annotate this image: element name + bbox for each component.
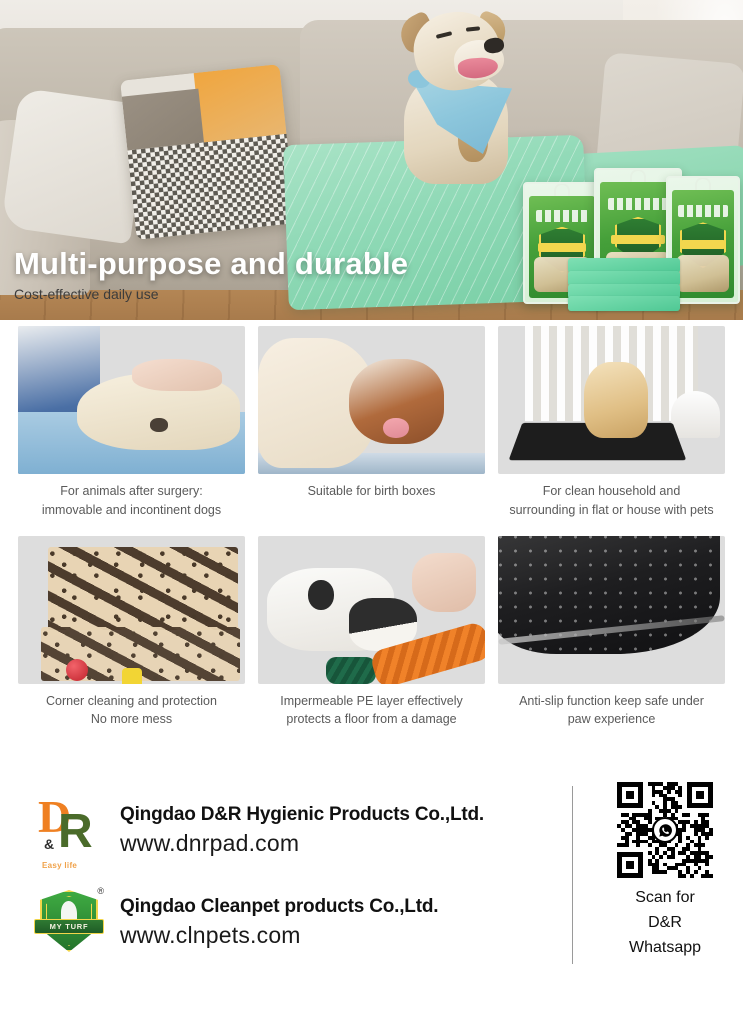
brand-text-cleanpet: Qingdao Cleanpet products Co.,Ltd. www.c… xyxy=(120,896,438,949)
feature-row-2: Corner cleaning and protectionNo more me… xyxy=(0,536,743,730)
qr-caption-line2: D&R xyxy=(600,911,730,936)
dog-on-mat-livingroom-photo xyxy=(498,326,725,474)
newborn-puppy-photo xyxy=(258,326,485,474)
human-hand xyxy=(412,553,476,612)
footer: D R & Easy life Qingdao D&R Hygienic Pro… xyxy=(0,762,743,1024)
green-rope-toy xyxy=(326,657,376,684)
company-website[interactable]: www.dnrpad.com xyxy=(120,830,484,857)
corner-pad-protection-photo xyxy=(18,536,245,684)
package-gold-band xyxy=(611,235,666,244)
feature-cell-birth-box[interactable]: Suitable for birth boxes xyxy=(258,326,485,520)
package-header-text xyxy=(678,205,728,217)
whatsapp-icon xyxy=(652,817,678,843)
feature-cell-household[interactable]: For clean household andsurrounding in fl… xyxy=(498,326,725,520)
feature-caption: For clean household andsurrounding in fl… xyxy=(498,482,725,520)
qr-finder-top-left xyxy=(617,782,643,808)
qr-caption-line1: Scan for xyxy=(600,886,730,911)
feature-cell-anti-slip[interactable]: Anti-slip function keep safe underpaw ex… xyxy=(498,536,725,730)
puppy-with-rope-toy-photo xyxy=(258,536,485,684)
registered-trademark-icon: ® xyxy=(97,886,104,896)
qr-finder-bottom-left xyxy=(617,852,643,878)
package-header-text xyxy=(536,210,589,222)
red-ball-toy xyxy=(66,659,88,681)
feature-caption: Impermeable PE layer effectivelyprotects… xyxy=(258,692,485,730)
puppy-nose xyxy=(383,418,409,438)
package-hang-hole xyxy=(695,177,711,191)
package-gold-band xyxy=(538,243,586,252)
feature-caption: Suitable for birth boxes xyxy=(258,482,485,501)
package-dog-photo xyxy=(677,255,729,292)
feature-cell-surgery[interactable]: For animals after surgery:immovable and … xyxy=(18,326,245,520)
footer-vertical-divider xyxy=(572,786,573,964)
dog-after-surgery-photo xyxy=(18,326,245,474)
yellow-toy xyxy=(122,668,142,684)
feature-cell-corner[interactable]: Corner cleaning and protectionNo more me… xyxy=(18,536,245,730)
feature-grid: For animals after surgery:immovable and … xyxy=(0,326,743,729)
package-header-text xyxy=(608,198,669,210)
logo-tagline: Easy life xyxy=(42,861,77,870)
brand-row-cleanpet: MY TURF ® Qingdao Cleanpet products Co.,… xyxy=(34,876,554,968)
logo-ribbon: MY TURF xyxy=(34,919,104,934)
anti-slip-black-backing-photo xyxy=(498,536,725,684)
qr-section: Scan for D&R Whatsapp xyxy=(600,782,730,960)
product-flyer-page: Multi-purpose and durable Cost-effective… xyxy=(0,0,743,1024)
folded-pads-stack xyxy=(568,258,680,310)
whatsapp-qr-code[interactable] xyxy=(617,782,713,878)
my-turf-shield-logo: MY TURF ® xyxy=(34,886,104,958)
houndstooth-pillow xyxy=(120,64,296,240)
company-website[interactable]: www.clnpets.com xyxy=(120,922,438,949)
feature-caption: Anti-slip function keep safe underpaw ex… xyxy=(498,692,725,730)
footer-brands: D R & Easy life Qingdao D&R Hygienic Pro… xyxy=(34,784,554,968)
logo-ampersand: & xyxy=(44,836,54,852)
petting-hand xyxy=(132,359,223,392)
puppy-black-spot xyxy=(308,580,334,610)
dr-easy-life-logo: D R & Easy life xyxy=(34,792,104,868)
package-gold-band xyxy=(681,240,726,249)
package-front-panel xyxy=(672,190,734,298)
hero-title: Multi-purpose and durable xyxy=(14,246,408,282)
hero-banner: Multi-purpose and durable Cost-effective… xyxy=(0,0,743,320)
feature-row-1: For animals after surgery:immovable and … xyxy=(0,326,743,520)
folded-pad-layer xyxy=(568,296,680,311)
feature-cell-pe-layer[interactable]: Impermeable PE layer effectivelyprotects… xyxy=(258,536,485,730)
wall-pad-bone-pattern xyxy=(48,547,239,630)
pillow-panel-houndstooth xyxy=(127,134,295,240)
qr-finder-top-right xyxy=(687,782,713,808)
brand-text-dr: Qingdao D&R Hygienic Products Co.,Ltd. w… xyxy=(120,804,484,857)
bulldog-illustration xyxy=(392,6,542,186)
company-name: Qingdao Cleanpet products Co.,Ltd. xyxy=(120,896,438,918)
brand-row-dr: D R & Easy life Qingdao D&R Hygienic Pro… xyxy=(34,784,554,876)
hero-subtitle: Cost-effective daily use xyxy=(14,286,158,302)
qr-caption: Scan for D&R Whatsapp xyxy=(600,886,730,960)
package-hang-hole xyxy=(630,169,646,183)
feature-caption: For animals after surgery:immovable and … xyxy=(18,482,245,520)
company-name: Qingdao D&R Hygienic Products Co.,Ltd. xyxy=(120,804,484,826)
side-table xyxy=(671,391,721,438)
qr-caption-line3: Whatsapp xyxy=(600,936,730,961)
logo-letter-r: R xyxy=(58,808,93,856)
package-hang-hole xyxy=(554,183,570,197)
feature-caption: Corner cleaning and protectionNo more me… xyxy=(18,692,245,730)
golden-retriever xyxy=(584,362,648,439)
dog-nose xyxy=(150,418,168,432)
